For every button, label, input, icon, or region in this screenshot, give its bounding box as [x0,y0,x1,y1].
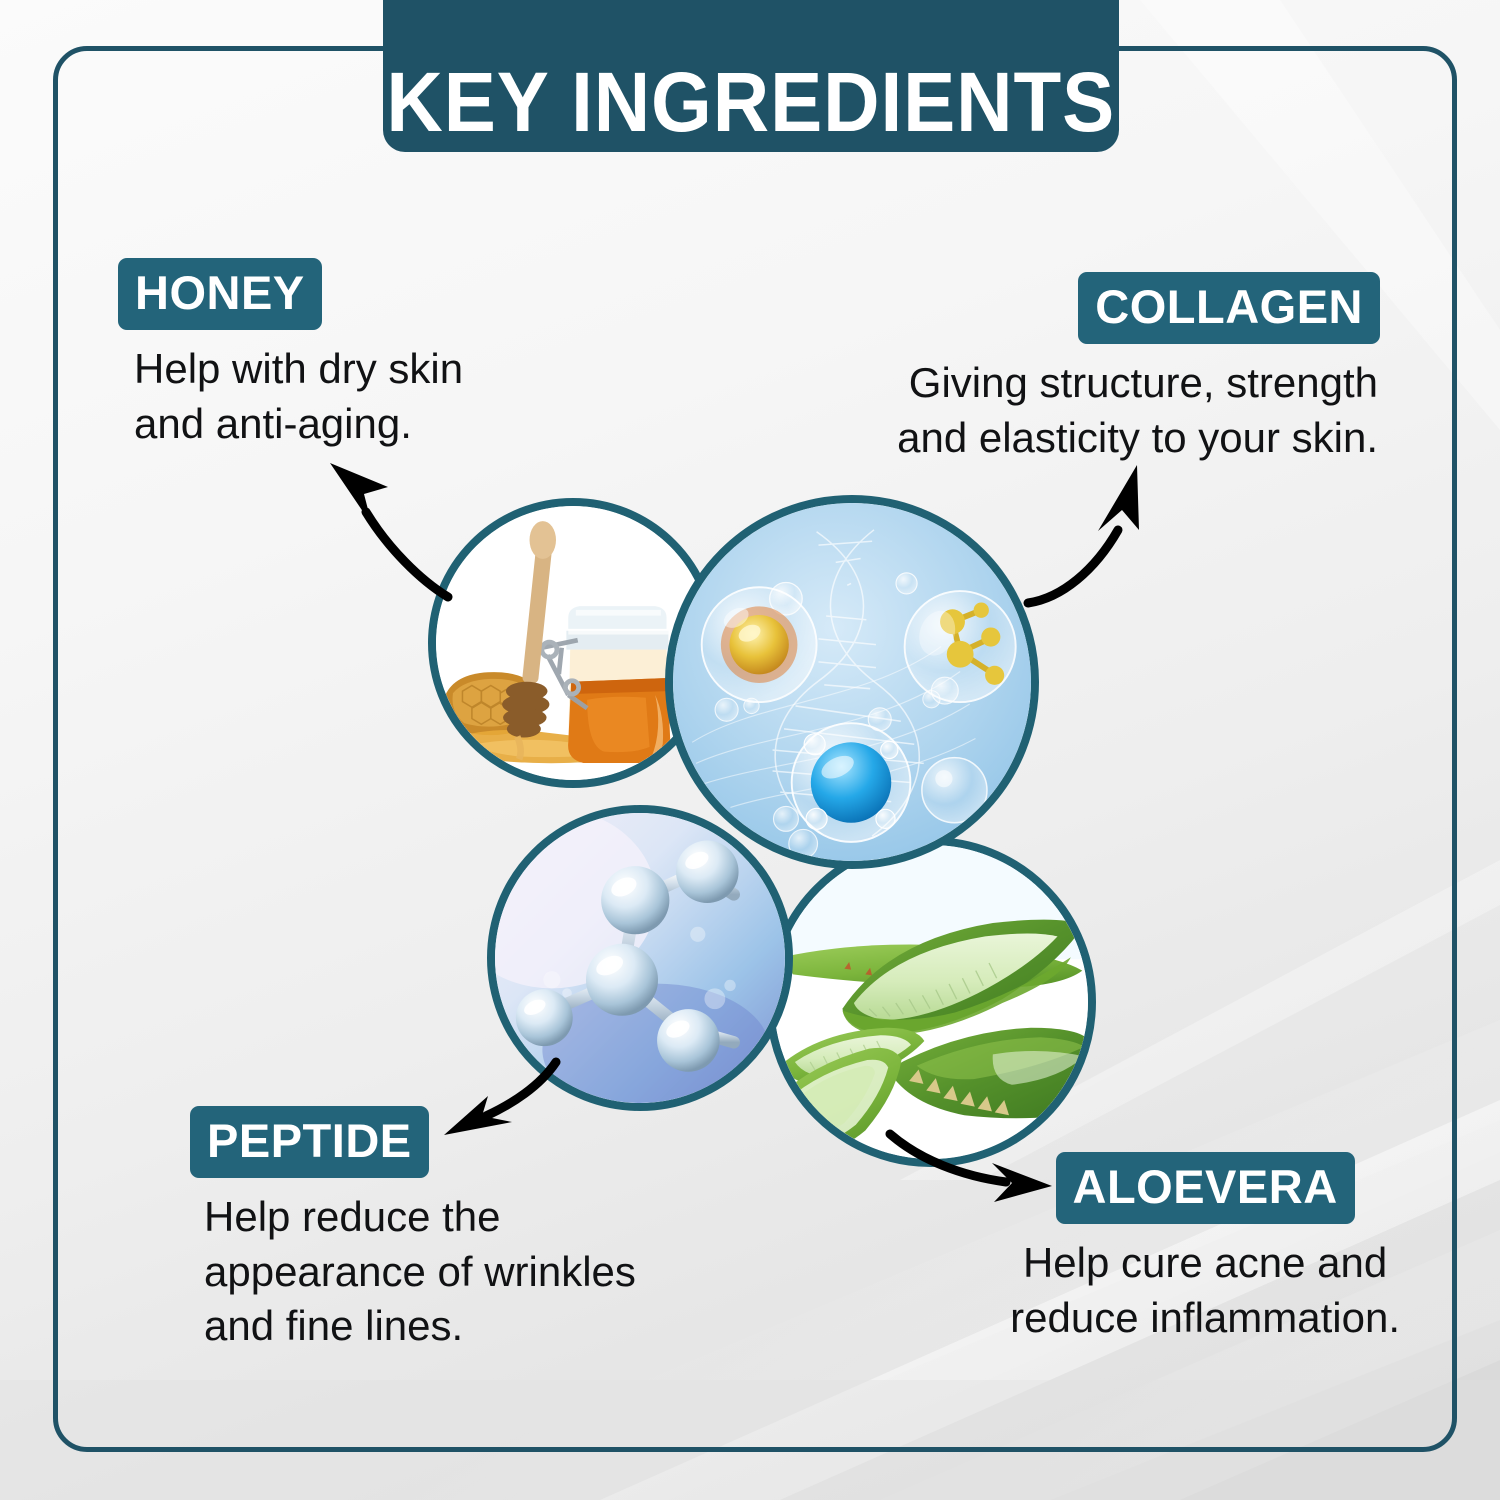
ingredient-image-peptide [487,805,793,1111]
ingredient-description-peptide: Help reduce the appearance of wrinkles a… [204,1190,636,1354]
ingredient-label-aloevera: ALOEVERA [1056,1152,1355,1224]
title-banner: KEY INGREDIENTS [383,0,1119,152]
ingredient-block-collagen: COLLAGEN Giving structure, strength and … [897,272,1380,465]
ingredient-image-aloevera [766,837,1096,1167]
ingredient-block-peptide: PEPTIDE Help reduce the appearance of wr… [190,1106,636,1354]
ingredient-label-collagen: COLLAGEN [1078,272,1380,344]
ingredient-description-aloevera: Help cure acne and reduce inflammation. [1010,1236,1400,1345]
ingredient-block-honey: HONEY Help with dry skin and anti-aging. [118,258,463,451]
page-title: KEY INGREDIENTS [387,60,1116,144]
ingredient-description-honey: Help with dry skin and anti-aging. [134,342,463,451]
infographic-canvas: KEY INGREDIENTS [0,0,1500,1500]
ingredient-description-collagen: Giving structure, strength and elasticit… [897,356,1378,465]
ingredient-image-collagen [665,495,1039,869]
ingredient-label-honey: HONEY [118,258,322,330]
ingredient-block-aloevera: ALOEVERA Help cure acne and reduce infla… [1010,1152,1400,1345]
ingredient-label-peptide: PEPTIDE [190,1106,429,1178]
